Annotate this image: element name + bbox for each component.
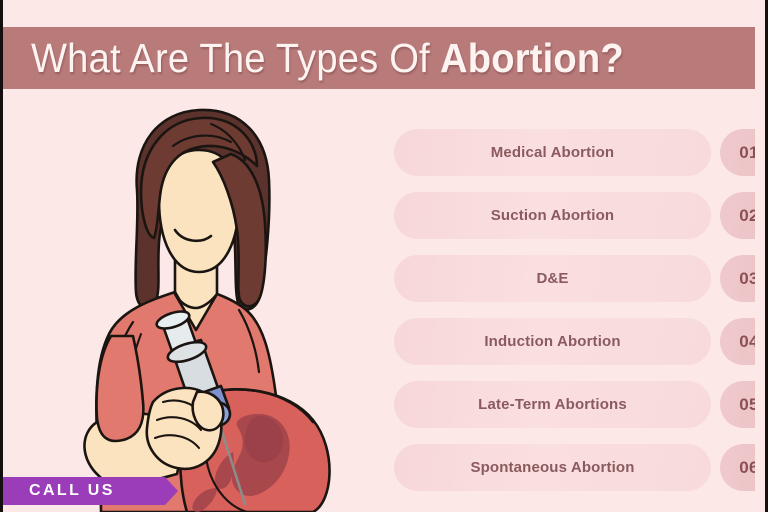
type-pill[interactable]: Suction Abortion (394, 192, 711, 239)
call-us-label: CALL US (29, 482, 115, 500)
list-item[interactable]: Late-Term Abortions 05 (394, 381, 768, 428)
type-label: Late-Term Abortions (478, 396, 627, 413)
type-label: Induction Abortion (484, 333, 620, 350)
header-bar: What Are The Types OfAbortion? (3, 27, 755, 89)
type-label: Suction Abortion (491, 207, 615, 224)
type-label: D&E (536, 270, 568, 287)
list-item[interactable]: Medical Abortion 01 (394, 129, 768, 176)
type-pill[interactable]: Spontaneous Abortion (394, 444, 711, 491)
list-item[interactable]: D&E 03 (394, 255, 768, 302)
type-pill[interactable]: Medical Abortion (394, 129, 711, 176)
right-edge-strip (755, 0, 765, 512)
sleeve-left (97, 336, 144, 441)
list-item[interactable]: Suction Abortion 02 (394, 192, 768, 239)
list-item[interactable]: Induction Abortion 04 (394, 318, 768, 365)
list-item[interactable]: Spontaneous Abortion 06 (394, 444, 768, 491)
page-title-bold: Abortion? (440, 35, 624, 81)
type-pill[interactable]: Induction Abortion (394, 318, 711, 365)
page-title-light: What Are The Types Of (31, 35, 430, 81)
abortion-types-list: Medical Abortion 01 Suction Abortion 02 … (394, 129, 768, 507)
type-label: Medical Abortion (491, 144, 615, 161)
infographic-canvas: What Are The Types OfAbortion? (0, 0, 768, 512)
pregnant-woman-with-syringe-illustration (41, 96, 351, 512)
type-pill[interactable]: D&E (394, 255, 711, 302)
type-pill[interactable]: Late-Term Abortions (394, 381, 711, 428)
type-label: Spontaneous Abortion (470, 459, 634, 476)
call-us-button[interactable]: CALL US (3, 477, 178, 505)
page-title: What Are The Types OfAbortion? (31, 35, 624, 82)
